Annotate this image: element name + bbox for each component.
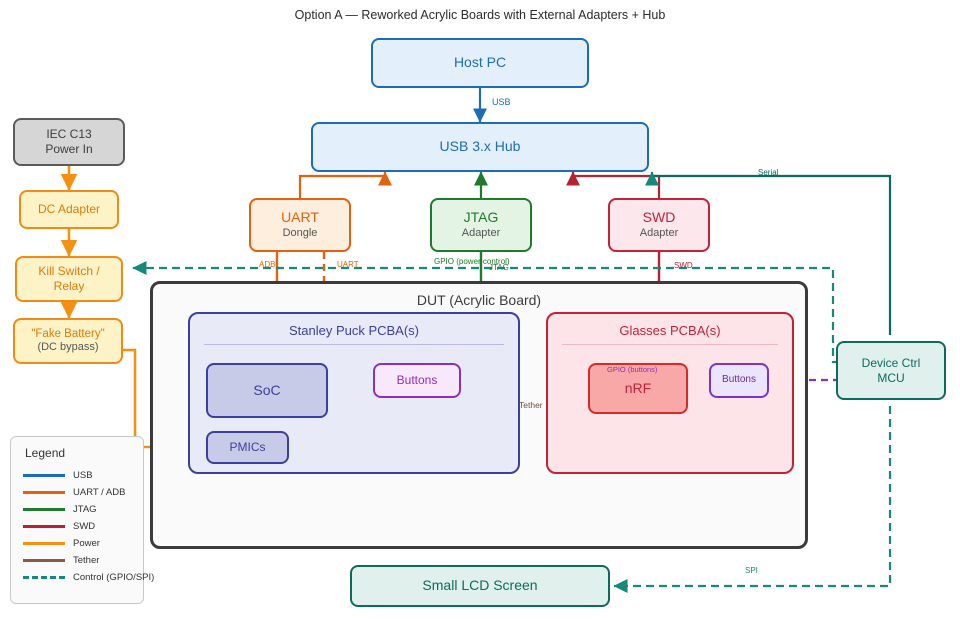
jtag-adapter-sub: Adapter bbox=[462, 227, 501, 241]
glasses-divider bbox=[562, 344, 778, 345]
node-soc[interactable]: SoC bbox=[206, 363, 328, 418]
legend-item: SWD bbox=[23, 519, 95, 533]
dc-adapter-label: DC Adapter bbox=[38, 202, 100, 217]
node-fake-battery[interactable]: "Fake Battery" (DC bypass) bbox=[13, 318, 123, 364]
edge-label-usb: USB bbox=[492, 97, 511, 107]
edge-label-adb: ADB bbox=[259, 260, 275, 269]
edge-label-gpio-buttons: GPIO (buttons) bbox=[607, 365, 657, 374]
legend-label: UART / ADB bbox=[73, 487, 125, 498]
swd-adapter-sub: Adapter bbox=[640, 227, 679, 241]
puck-title: Stanley Puck PCBA(s) bbox=[190, 323, 518, 338]
device-ctrl-mcu-label: Device Ctrl bbox=[862, 356, 921, 371]
node-puck-buttons[interactable]: Buttons bbox=[373, 363, 461, 398]
node-host-pc[interactable]: Host PC bbox=[371, 38, 589, 88]
nrf-label: nRF bbox=[625, 380, 651, 398]
iec-label: IEC C13 bbox=[46, 127, 91, 142]
swd-adapter-label: SWD bbox=[643, 209, 676, 227]
legend-label: Power bbox=[73, 538, 100, 549]
legend-swatch bbox=[23, 491, 65, 494]
kill-switch-sub: Relay bbox=[54, 279, 85, 294]
usb-hub-label: USB 3.x Hub bbox=[440, 138, 521, 156]
legend: Legend USBUART / ADBJTAGSWDPowerTetherCo… bbox=[10, 436, 144, 604]
node-jtag-adapter[interactable]: JTAG Adapter bbox=[430, 198, 532, 252]
edge-label-spi: SPI bbox=[745, 566, 758, 575]
device-ctrl-mcu-sub: MCU bbox=[877, 371, 904, 386]
legend-label: JTAG bbox=[73, 504, 97, 515]
soc-label: SoC bbox=[253, 382, 280, 400]
node-iec-power-in[interactable]: IEC C13 Power In bbox=[13, 118, 125, 166]
node-pmics[interactable]: PMICs bbox=[206, 431, 289, 464]
node-uart-dongle[interactable]: UART Dongle bbox=[249, 198, 351, 252]
jtag-adapter-label: JTAG bbox=[464, 209, 499, 227]
node-device-ctrl-mcu[interactable]: Device Ctrl MCU bbox=[836, 341, 946, 400]
node-swd-adapter[interactable]: SWD Adapter bbox=[608, 198, 710, 252]
edge-label-jtag: JTAG bbox=[489, 263, 509, 272]
uart-dongle-sub: Dongle bbox=[283, 227, 318, 241]
uart-dongle-label: UART bbox=[281, 209, 319, 227]
legend-item: USB bbox=[23, 468, 93, 482]
node-usb-hub[interactable]: USB 3.x Hub bbox=[311, 122, 649, 172]
legend-title: Legend bbox=[25, 446, 65, 460]
legend-swatch bbox=[23, 559, 65, 562]
puck-buttons-label: Buttons bbox=[397, 373, 438, 388]
glasses-title: Glasses PCBA(s) bbox=[548, 323, 792, 338]
kill-switch-label: Kill Switch / bbox=[38, 264, 99, 279]
legend-swatch bbox=[23, 576, 65, 579]
glasses-buttons-label: Buttons bbox=[722, 374, 756, 387]
legend-item: Power bbox=[23, 536, 100, 550]
node-dc-adapter[interactable]: DC Adapter bbox=[19, 190, 119, 229]
legend-label: USB bbox=[73, 470, 93, 481]
legend-swatch bbox=[23, 508, 65, 511]
node-kill-switch-relay[interactable]: Kill Switch / Relay bbox=[15, 256, 123, 302]
legend-item: JTAG bbox=[23, 502, 97, 516]
node-glasses-buttons[interactable]: Buttons bbox=[709, 363, 769, 398]
legend-swatch bbox=[23, 542, 65, 545]
legend-label: Tether bbox=[73, 555, 99, 566]
legend-swatch bbox=[23, 525, 65, 528]
edge-label-uart: UART bbox=[337, 260, 359, 269]
fake-battery-label: "Fake Battery" bbox=[31, 327, 104, 341]
legend-item: Tether bbox=[23, 553, 99, 567]
dut-title: DUT (Acrylic Board) bbox=[153, 292, 805, 308]
legend-swatch bbox=[23, 474, 65, 477]
host-pc-label: Host PC bbox=[454, 54, 506, 72]
fake-battery-sub: (DC bypass) bbox=[37, 341, 98, 355]
legend-item: UART / ADB bbox=[23, 485, 125, 499]
legend-label: SWD bbox=[73, 521, 95, 532]
iec-sub: Power In bbox=[45, 142, 92, 157]
legend-item: Control (GPIO/SPI) bbox=[23, 570, 154, 584]
edge-label-tether: Tether bbox=[519, 400, 543, 410]
node-small-lcd-screen[interactable]: Small LCD Screen bbox=[350, 565, 610, 607]
edge-label-serial: Serial bbox=[758, 168, 778, 177]
legend-label: Control (GPIO/SPI) bbox=[73, 572, 154, 583]
lcd-label: Small LCD Screen bbox=[422, 577, 537, 595]
pmics-label: PMICs bbox=[230, 440, 266, 455]
edge-label-swd: SWD bbox=[674, 261, 693, 270]
puck-divider bbox=[204, 344, 504, 345]
